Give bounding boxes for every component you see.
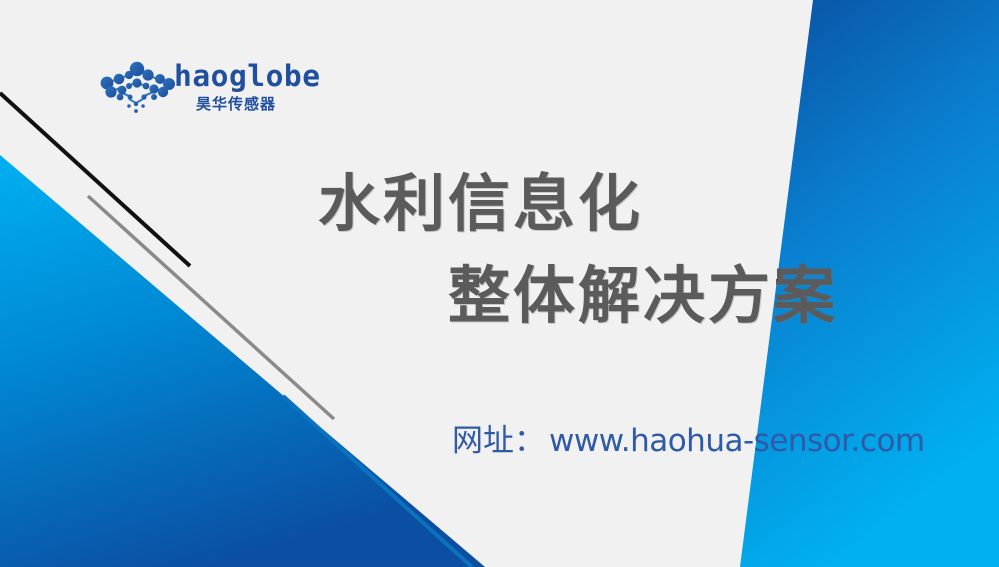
company-logo: haoglobe 昊华传感器: [96, 57, 316, 119]
website-line: 网址：www.haohua-sensor.com: [452, 419, 925, 463]
page-title-line-2: 整体解决方案: [300, 250, 920, 342]
website-url[interactable]: www.haohua-sensor.com: [549, 423, 925, 459]
website-label: 网址：: [452, 423, 545, 459]
page-title: 水利信息化 整体解决方案: [300, 158, 920, 342]
logo-wordmark: haoglobe: [174, 59, 317, 93]
logo-subtitle-chinese: 昊华传感器: [196, 94, 276, 114]
presentation-slide: haoglobe 昊华传感器 水利信息化 整体解决方案 网址：www.haohu…: [0, 0, 999, 567]
page-title-line-1: 水利信息化: [300, 158, 920, 250]
haoglobe-network-dots-icon: [96, 59, 176, 117]
